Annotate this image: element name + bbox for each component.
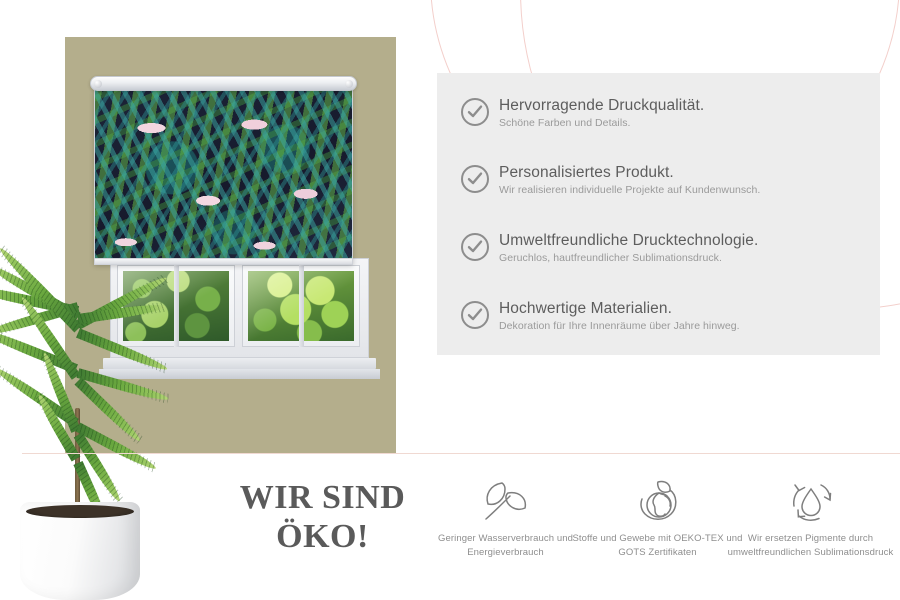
roller-blind-tropical-pattern [94, 90, 353, 264]
window-mullion [299, 265, 304, 347]
feature-subtitle: Geruchlos, hautfreundlicher Sublimations… [499, 251, 758, 265]
feature-subtitle: Dekoration für Ihre Innenräume über Jahr… [499, 319, 740, 333]
roller-blind-hem-bar [94, 258, 353, 265]
two-leaves-icon [418, 472, 593, 530]
eco-item: Wir ersetzen Pigmente durch umweltfreund… [723, 472, 898, 561]
section-divider [22, 453, 900, 454]
blind-end-cap-icon [345, 80, 353, 88]
feature-item: Hervorragende Druckqualität. Schöne Farb… [461, 96, 704, 130]
palm-frond [76, 328, 169, 373]
water-drop-recycle-icon [723, 472, 898, 530]
feature-subtitle: Wir realisieren individuelle Projekte au… [499, 183, 760, 197]
eco-item: Geringer Wasserverbrauch und Energieverb… [418, 472, 593, 561]
feature-title: Umweltfreundliche Drucktechnologie. [499, 232, 758, 249]
check-circle-icon [461, 301, 489, 329]
window-sash-right [242, 265, 360, 347]
roller-blind-top-bar [90, 76, 357, 91]
feature-item: Personalisiertes Produkt. Wir realisiere… [461, 163, 760, 197]
check-circle-icon [461, 98, 489, 126]
feature-item: Umweltfreundliche Drucktechnologie. Geru… [461, 231, 758, 265]
feature-title: Hervorragende Druckqualität. [499, 97, 704, 114]
eco-caption: Geringer Wasserverbrauch und Energieverb… [418, 532, 593, 561]
blind-end-cap-icon [94, 80, 102, 88]
globe-leaf-icon [570, 472, 745, 530]
check-circle-icon [461, 233, 489, 261]
feature-item: Hochwertige Materialien. Dekoration für … [461, 299, 740, 333]
eco-caption: Wir ersetzen Pigmente durch umweltfreund… [723, 532, 898, 561]
plant-pot [20, 502, 140, 600]
feature-title: Hochwertige Materialien. [499, 300, 672, 317]
potted-palm-plant [0, 268, 222, 600]
eco-heading-line-1: WIR SIND [215, 478, 430, 517]
infographic-canvas: Hervorragende Druckqualität. Schöne Farb… [0, 0, 900, 600]
eco-heading-line-2: ÖKO! [215, 517, 430, 556]
check-circle-icon [461, 165, 489, 193]
eco-heading: WIR SIND ÖKO! [215, 478, 430, 557]
features-panel: Hervorragende Druckqualität. Schöne Farb… [437, 73, 880, 355]
feature-title: Personalisiertes Produkt. [499, 164, 674, 181]
eco-caption: Stoffe und Gewebe mit OEKO-TEX und GOTS … [570, 532, 745, 561]
eco-item: Stoffe und Gewebe mit OEKO-TEX und GOTS … [570, 472, 745, 561]
feature-subtitle: Schöne Farben und Details. [499, 116, 704, 130]
